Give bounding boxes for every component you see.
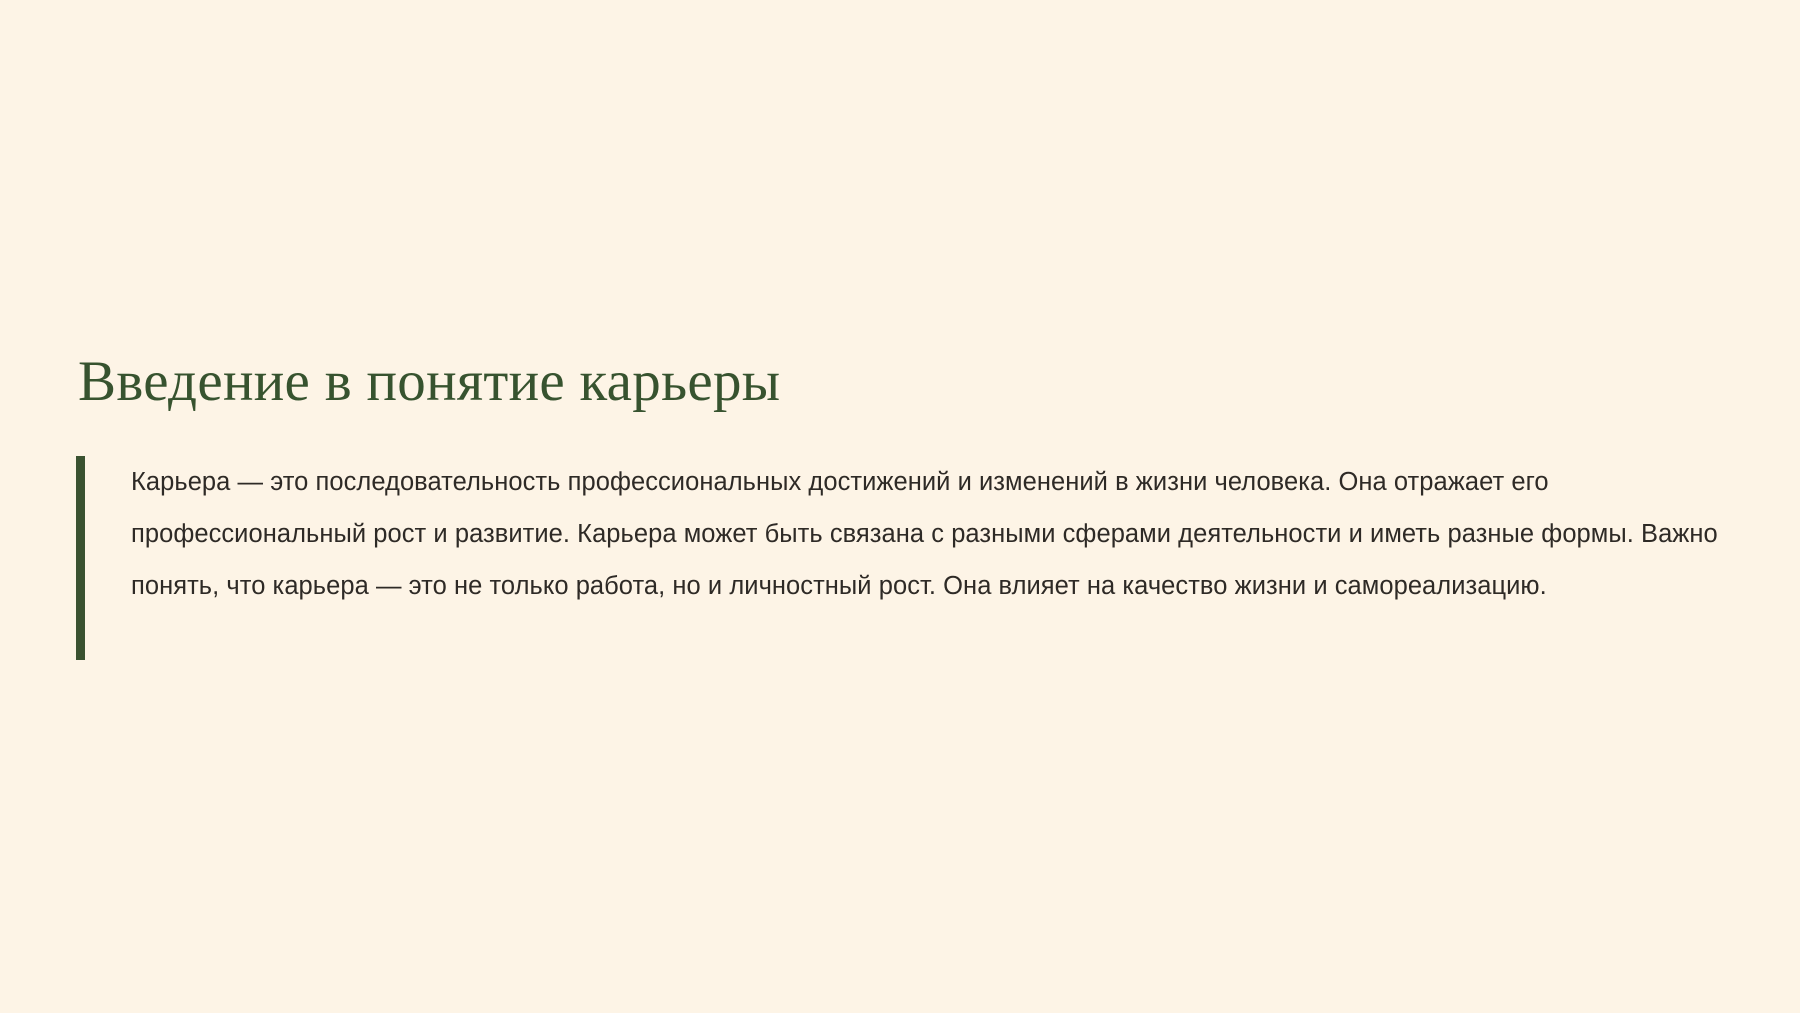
page-title: Введение в понятие карьеры — [78, 352, 1756, 412]
quote-block: Карьера — это последовательность професс… — [76, 456, 1756, 660]
accent-bar — [76, 456, 85, 660]
slide-content: Введение в понятие карьеры Карьера — это… — [76, 352, 1756, 660]
body-paragraph: Карьера — это последовательность професс… — [131, 456, 1756, 612]
slide-canvas: Введение в понятие карьеры Карьера — это… — [0, 0, 1800, 1013]
